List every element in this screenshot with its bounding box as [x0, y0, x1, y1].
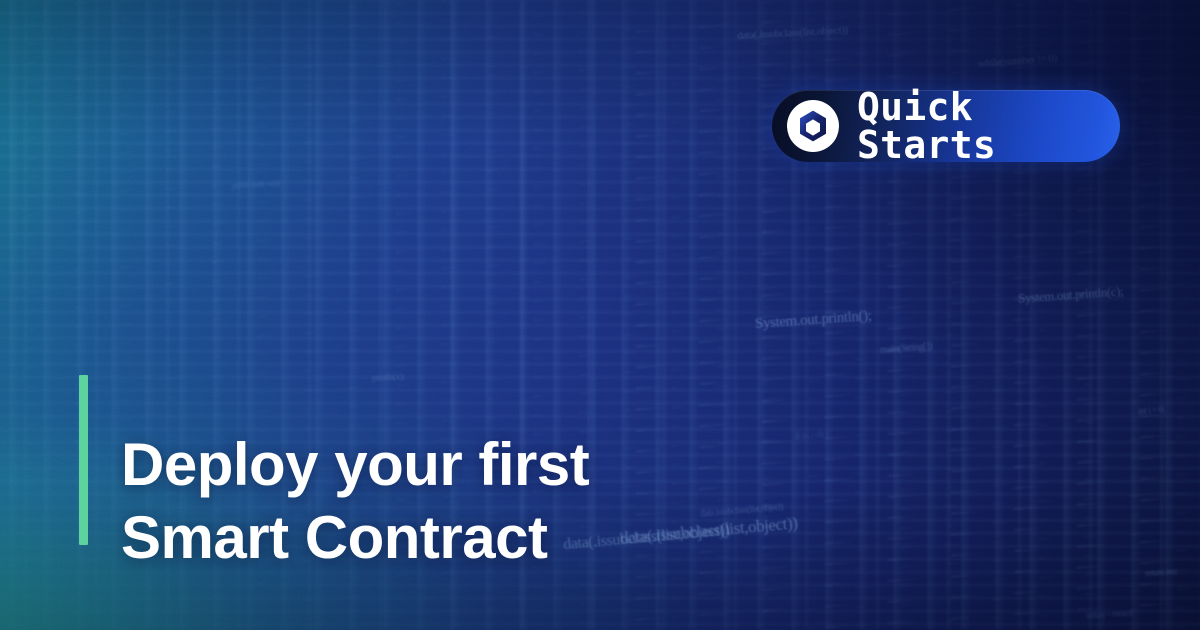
headline-line-1: Deploy your first: [121, 428, 741, 501]
chainlink-hexagon-icon: [787, 100, 839, 152]
quickstarts-banner: data(.issubclass(list,object))while(numb…: [0, 0, 1200, 630]
quickstarts-badge: Quick Starts: [772, 90, 1120, 162]
headline-line-2: Smart Contract: [121, 501, 741, 574]
quickstarts-wordmark: Quick Starts: [857, 88, 1120, 164]
page-title: Deploy your first Smart Contract: [121, 428, 741, 574]
headline-accent-bar: [79, 375, 88, 545]
